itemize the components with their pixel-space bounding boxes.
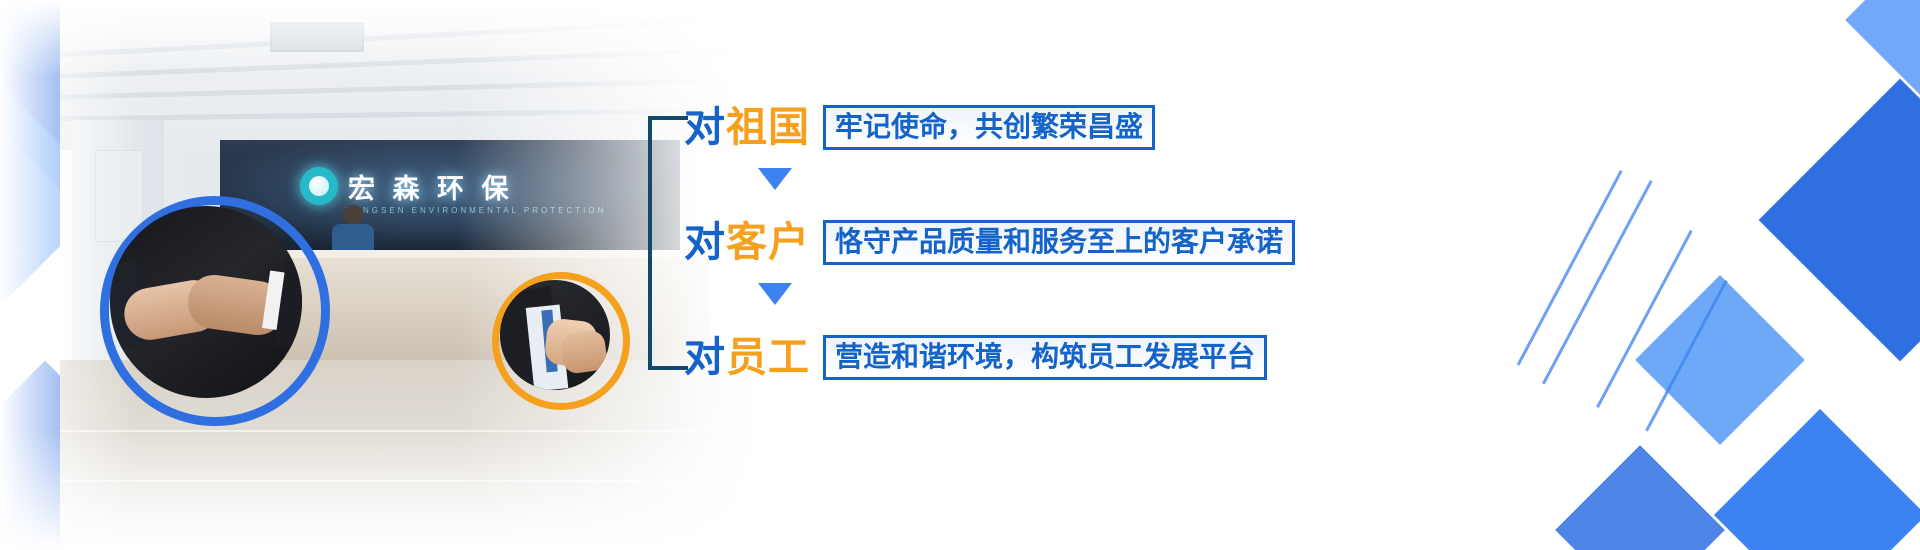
decor-diamond-mid-right — [1635, 275, 1805, 445]
handshake-photo-small — [500, 280, 610, 390]
philosophy-statement-customer: 恪守产品质量和服务至上的客户承诺 — [823, 220, 1295, 265]
left-bracket-icon — [648, 116, 688, 370]
lead-prefix-country: 对 — [684, 104, 726, 150]
lead-prefix-employee: 对 — [684, 334, 726, 380]
philosophy-statement-country: 牢记使命，共创繁荣昌盛 — [823, 105, 1155, 150]
philosophy-rows: 对祖国 牢记使命，共创繁荣昌盛 对客户 恪守产品质量和服务至上的客户承诺 对员工… — [684, 74, 1408, 386]
company-logo-icon — [300, 167, 338, 205]
philosophy-lead-customer: 对客户 — [684, 222, 810, 263]
decor-diamond-bottom-right — [1714, 409, 1920, 550]
lead-prefix-customer: 对 — [684, 219, 726, 265]
philosophy-statement-employee: 营造和谐环境，构筑员工发展平台 — [823, 335, 1267, 380]
philosophy-row-customer: 对客户 恪守产品质量和服务至上的客户承诺 — [684, 213, 1408, 271]
brand-sign-text: 宏 森 环 保 — [348, 167, 514, 206]
company-philosophy-banner: 宏 森 环 保 HONGSEN ENVIRONMENTAL PROTECTION — [0, 0, 1920, 550]
brand-sign-subtext: HONGSEN ENVIRONMENTAL PROTECTION — [345, 206, 606, 215]
philosophy-row-employee: 对员工 营造和谐环境，构筑员工发展平台 — [684, 328, 1408, 386]
lead-subject-employee: 员工 — [726, 334, 810, 380]
handshake-photo-large — [110, 206, 302, 398]
philosophy-lead-employee: 对员工 — [684, 337, 810, 378]
philosophy-row-country: 对祖国 牢记使命，共创繁荣昌盛 — [684, 98, 1408, 156]
decor-diamond-bottom-right-2 — [1555, 445, 1725, 550]
decor-diamond-right — [1759, 79, 1920, 362]
lead-subject-country: 祖国 — [726, 104, 810, 150]
ceiling-vent — [270, 22, 364, 52]
philosophy-lead-country: 对祖国 — [684, 107, 810, 148]
philosophy-text-block: 对祖国 牢记使命，共创繁荣昌盛 对客户 恪守产品质量和服务至上的客户承诺 对员工… — [648, 74, 1408, 404]
lead-subject-customer: 客户 — [726, 219, 810, 265]
